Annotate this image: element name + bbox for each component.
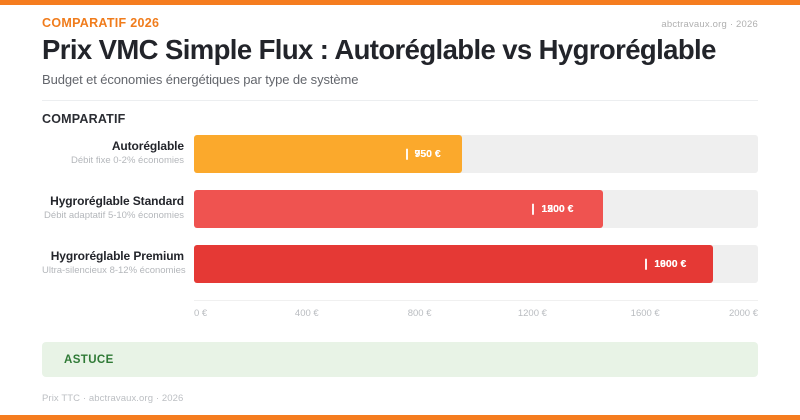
chart-bar-track: 1200 €1500 € — [194, 190, 758, 228]
axis-tick-label: 1600 € — [631, 308, 660, 319]
chart-row-subtitle: Ultra-silencieux 8-12% économies — [42, 264, 184, 278]
chart-bar-value-label-secondary: 1500 € — [541, 204, 573, 215]
chart-bar-track: 1600 €1900 € — [194, 245, 758, 283]
chart-bar-value-label: 1600 €1900 € — [645, 259, 686, 270]
chart-section-title: COMPARATIF — [42, 112, 758, 126]
chart-row-name: Hygroréglable Standard — [42, 195, 184, 209]
chart-row: Hygroréglable PremiumUltra-silencieux 8-… — [42, 245, 758, 283]
tip-callout: ASTUCE — [42, 342, 758, 377]
footer-note: Prix TTC · abctravaux.org · 2026 — [42, 393, 758, 404]
chart-row-labels: Hygroréglable StandardDébit adaptatif 5-… — [42, 195, 194, 223]
axis-tick-label: 800 € — [408, 308, 432, 319]
page-subtitle: Budget et économies énergétiques par typ… — [42, 72, 758, 87]
chart-row-subtitle: Débit adaptatif 5-10% économies — [42, 209, 184, 223]
chart-row: Hygroréglable StandardDébit adaptatif 5-… — [42, 190, 758, 228]
header-top-row: COMPARATIF 2026 abctravaux.org · 2026 — [42, 5, 758, 30]
chart-bar-track: 750 €950 € — [194, 135, 758, 173]
chart-x-axis: 0 €400 €800 €1200 €1600 €2000 € — [194, 300, 758, 325]
chart-row-labels: Hygroréglable PremiumUltra-silencieux 8-… — [42, 250, 194, 278]
axis-tick-label: 1200 € — [518, 308, 547, 319]
chart-row-name: Hygroréglable Premium — [42, 250, 184, 264]
source-note: abctravaux.org · 2026 — [661, 19, 758, 30]
chart-bar-value-label-secondary: 1900 € — [654, 259, 686, 270]
eyebrow-label: COMPARATIF 2026 — [42, 16, 159, 30]
header-divider — [42, 100, 758, 101]
chart-bar-value-label-secondary: 950 € — [415, 149, 441, 160]
chart-bar — [194, 245, 713, 283]
axis-tick-label: 400 € — [295, 308, 319, 319]
chart-row-subtitle: Débit fixe 0-2% économies — [42, 154, 184, 168]
chart-row: AutoréglableDébit fixe 0-2% économies750… — [42, 135, 758, 173]
infographic-page: COMPARATIF 2026 abctravaux.org · 2026 Pr… — [0, 5, 800, 415]
tip-title: ASTUCE — [64, 354, 114, 366]
bottom-accent-bar — [0, 415, 800, 420]
bar-chart: AutoréglableDébit fixe 0-2% économies750… — [42, 135, 758, 325]
axis-tick-label: 0 € — [194, 308, 207, 319]
chart-bar-value-label: 750 €950 € — [406, 149, 441, 160]
chart-row-labels: AutoréglableDébit fixe 0-2% économies — [42, 140, 194, 168]
chart-bar-value-label: 1200 €1500 € — [532, 204, 573, 215]
axis-tick-label: 2000 € — [729, 308, 758, 319]
chart-row-name: Autoréglable — [42, 140, 184, 154]
page-title: Prix VMC Simple Flux : Autoréglable vs H… — [42, 35, 758, 65]
